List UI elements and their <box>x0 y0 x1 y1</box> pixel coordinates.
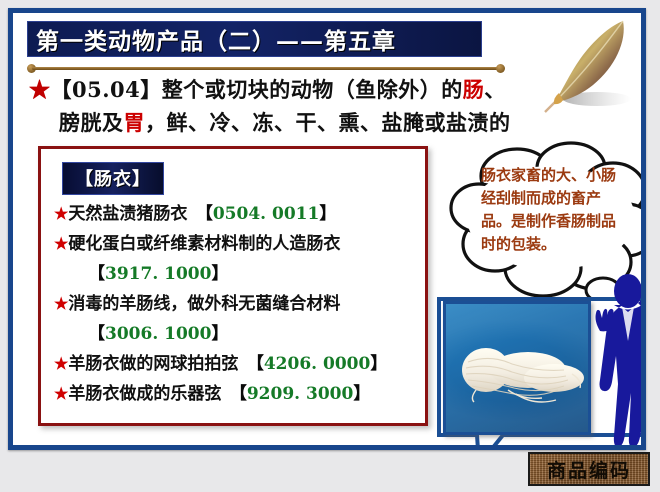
product-code: 【3006. 1000】 <box>88 324 228 344</box>
list-item-label: 天然盐渍猪肠衣 <box>68 204 187 224</box>
header-line1-post: 、 <box>484 77 506 102</box>
header-line1-highlight: 肠 <box>463 77 485 102</box>
footer-code-label: 商品编码 <box>528 452 650 486</box>
star-icon: ★ <box>54 294 68 313</box>
slide-canvas: 第一类动物产品（二）——第五章 ★【05.04】整个或切块的动物（鱼除外）的肠、… <box>0 0 660 492</box>
slide-title-bar: 第一类动物产品（二）——第五章 <box>27 21 482 57</box>
list-item: ★天然盐渍猪肠衣 【0504. 0011】 <box>54 199 419 229</box>
title-divider <box>27 64 505 73</box>
slide-content-area: 第一类动物产品（二）——第五章 ★【05.04】整个或切块的动物（鱼除外）的肠、… <box>13 13 641 445</box>
header-line2-post: ，鲜、冷、冻、干、熏、盐腌或盐渍的 <box>145 110 511 135</box>
divider-dot-right <box>496 64 505 73</box>
subtitle-text: 【肠衣】 <box>75 169 151 190</box>
product-code-number: 3006. 1000 <box>105 324 211 344</box>
page-title: 第一类动物产品（二）——第五章 <box>36 22 396 56</box>
star-icon: ★ <box>54 354 68 373</box>
header-line2-pre: 膀胱及 <box>59 110 124 135</box>
list-item: ★羊肠衣做的网球拍拍弦 【4206. 0000】 <box>54 349 419 379</box>
list-item: ★羊肠衣做成的乐器弦 【9209. 3000】 <box>54 379 419 409</box>
subtitle-badge: 【肠衣】 <box>62 162 164 195</box>
header-line-1: ★【05.04】整个或切块的动物（鱼除外）的肠、 <box>29 73 549 106</box>
footer-code-text: 商品编码 <box>547 456 631 483</box>
header-line2-highlight: 胃 <box>124 110 146 135</box>
header-line-2: 膀胱及胃，鲜、冷、冻、干、熏、盐腌或盐渍的 <box>29 106 549 139</box>
product-photo <box>443 301 591 435</box>
product-code: 【0504. 0011】 <box>196 204 336 224</box>
product-code-number: 3917. 1000 <box>105 264 211 284</box>
header-line1-pre: 【05.04】整个或切块的动物（鱼除外）的 <box>51 77 463 102</box>
businessman-silhouette-icon <box>576 271 641 445</box>
product-code: 【9209. 3000】 <box>230 384 370 404</box>
star-icon: ★ <box>54 204 68 223</box>
list-item-code-line: 【3006. 1000】 <box>54 319 419 349</box>
list-item-label: 消毒的羊肠线，做外科无菌缝合材料 <box>68 294 340 314</box>
divider-bar <box>32 67 500 70</box>
product-code-number: 0504. 0011 <box>213 204 319 224</box>
product-code-number: 4206. 0000 <box>264 354 370 374</box>
star-icon: ★ <box>29 77 51 102</box>
cloud-text: 肠衣家畜的大、小肠经刮制而成的畜产品。是制作香肠制品时的包装。 <box>481 164 629 256</box>
product-code: 【4206. 0000】 <box>247 354 387 374</box>
bullet-list: ★天然盐渍猪肠衣 【0504. 0011】★硬化蛋白或纤维素材料制的人造肠衣【3… <box>54 199 419 409</box>
list-item-label: 硬化蛋白或纤维素材料制的人造肠衣 <box>68 234 340 254</box>
list-item: ★消毒的羊肠线，做外科无菌缝合材料 <box>54 289 419 319</box>
list-item: ★硬化蛋白或纤维素材料制的人造肠衣 <box>54 229 419 259</box>
list-item-label: 羊肠衣做的网球拍拍弦 <box>68 354 238 374</box>
star-icon: ★ <box>54 384 68 403</box>
product-code-number: 9209. 3000 <box>247 384 353 404</box>
star-icon: ★ <box>54 234 68 253</box>
header-paragraph: ★【05.04】整个或切块的动物（鱼除外）的肠、 膀胱及胃，鲜、冷、冻、干、熏、… <box>29 73 549 139</box>
content-box: 【肠衣】 ★天然盐渍猪肠衣 【0504. 0011】★硬化蛋白或纤维素材料制的人… <box>38 146 428 426</box>
photo-casings-illustration <box>446 304 591 435</box>
product-code: 【3917. 1000】 <box>88 264 228 284</box>
list-item-label: 羊肠衣做成的乐器弦 <box>68 384 221 404</box>
slide-frame: 第一类动物产品（二）——第五章 ★【05.04】整个或切块的动物（鱼除外）的肠、… <box>8 8 646 450</box>
list-item-code-line: 【3917. 1000】 <box>54 259 419 289</box>
